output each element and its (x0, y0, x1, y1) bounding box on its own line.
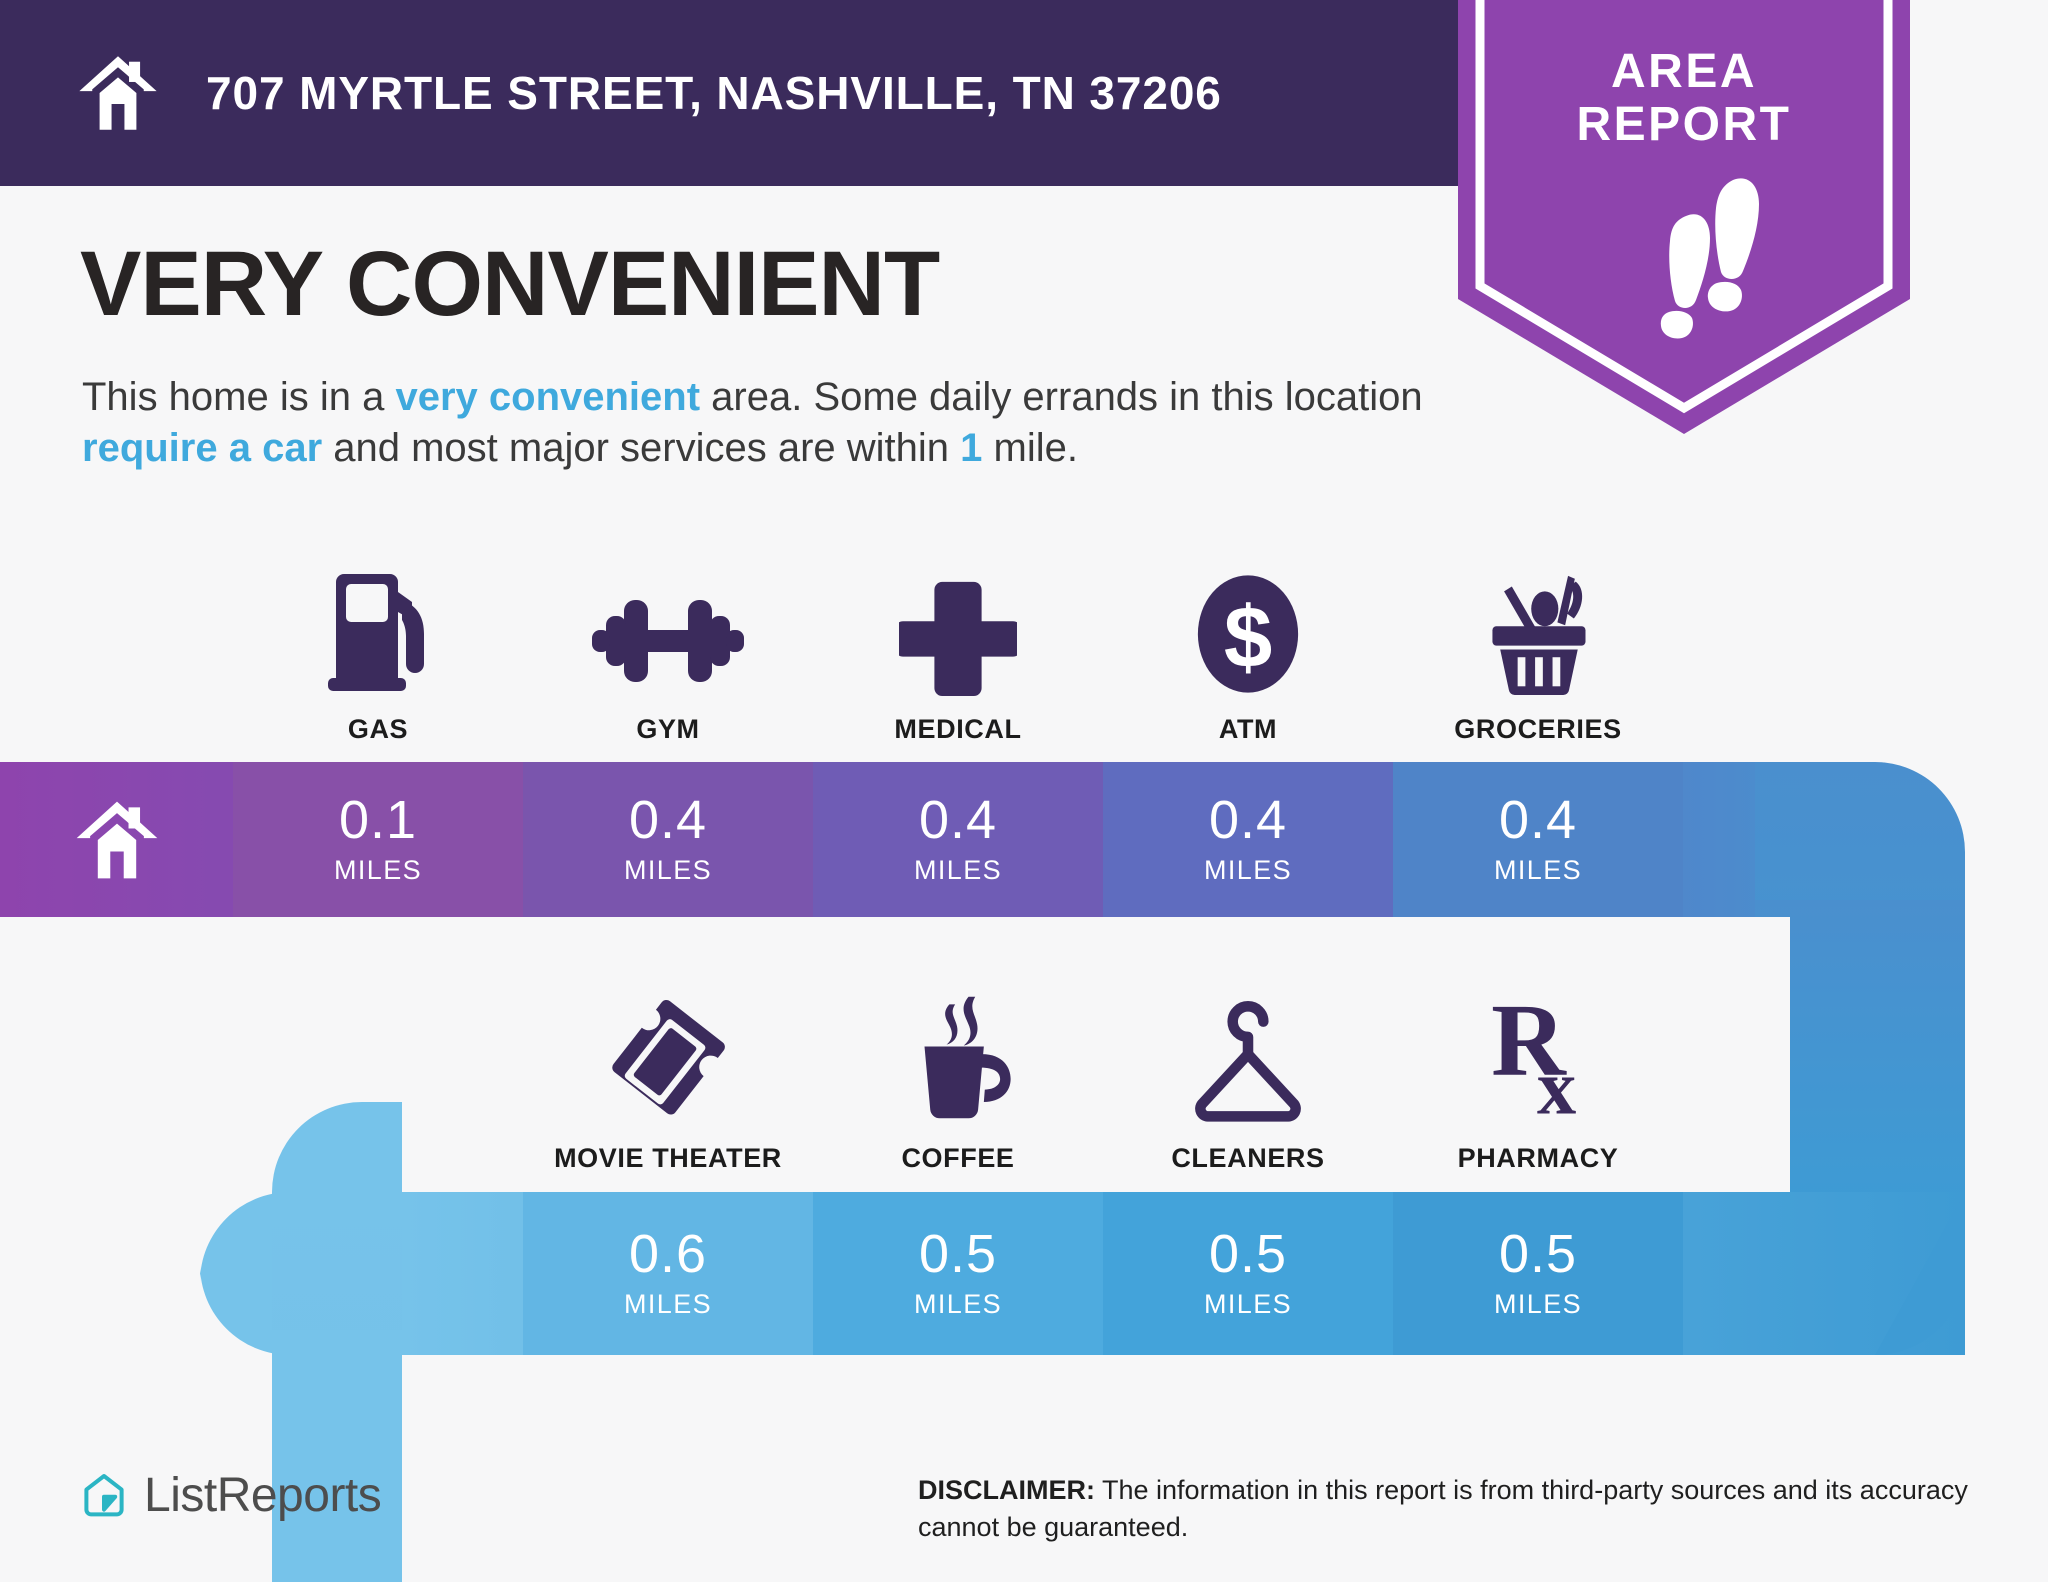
amenity-icon-row-2: MOVIE THEATER COFFEE (523, 985, 1683, 1174)
distance-unit: MILES (1494, 855, 1582, 886)
amenity-movie-theater: MOVIE THEATER (523, 985, 813, 1174)
header-bar: 707 MYRTLE STREET, NASHVILLE, TN 37206 (0, 0, 1492, 186)
area-report-badge: AREA REPORT (1458, 0, 1910, 434)
distance-value: 0.4 (629, 793, 707, 847)
amenity-groceries: GROCERIES (1393, 556, 1683, 745)
distance-row-2: 0.6 MILES 0.5 MILES 0.5 MILES 0.5 MILES (523, 1192, 1683, 1355)
distance-cell-movie-theater: 0.6 MILES (523, 1192, 813, 1355)
distance-cell-groceries: 0.4 MILES (1393, 762, 1683, 917)
distance-value: 0.6 (629, 1227, 707, 1281)
coffee-cup-icon (895, 985, 1021, 1125)
distance-unit: MILES (1494, 1289, 1582, 1320)
distance-cell-atm: 0.4 MILES (1103, 762, 1393, 917)
distance-cell-gym: 0.4 MILES (523, 762, 813, 917)
badge-shape (1458, 0, 1910, 434)
area-report-infographic: 707 MYRTLE STREET, NASHVILLE, TN 37206 A… (0, 0, 2048, 1582)
distance-cell-pharmacy: 0.5 MILES (1393, 1192, 1683, 1355)
amenity-label: ATM (1219, 714, 1277, 745)
amenity-label: GAS (348, 714, 408, 745)
rx-icon: R x (1475, 985, 1601, 1125)
distance-unit: MILES (914, 1289, 1002, 1320)
movie-ticket-icon (605, 985, 731, 1125)
distance-value: 0.4 (919, 793, 997, 847)
amenity-atm: $ ATM (1103, 556, 1393, 745)
grocery-basket-icon (1475, 556, 1601, 696)
dollar-circle-icon: $ (1196, 556, 1300, 696)
amenity-icon-row-1: GAS GYM MEDICA (233, 556, 1683, 745)
distance-value: 0.5 (1499, 1227, 1577, 1281)
home-icon (72, 47, 164, 139)
amenity-label: MOVIE THEATER (554, 1143, 782, 1174)
distance-cell-gas: 0.1 MILES (233, 762, 523, 917)
distance-value: 0.5 (919, 1227, 997, 1281)
distance-value: 0.1 (339, 793, 417, 847)
logo-wordmark: ListReports (144, 1468, 381, 1523)
amenity-label: PHARMACY (1458, 1143, 1619, 1174)
distance-unit: MILES (1204, 1289, 1292, 1320)
disclaimer: DISCLAIMER: The information in this repo… (918, 1472, 1988, 1547)
listreports-logo[interactable]: ListReports (80, 1468, 381, 1523)
distance-cell-cleaners: 0.5 MILES (1103, 1192, 1393, 1355)
medical-cross-icon (899, 556, 1017, 696)
svg-text:$: $ (1224, 589, 1272, 686)
amenity-label: COFFEE (901, 1143, 1014, 1174)
distance-value: 0.4 (1499, 793, 1577, 847)
amenity-medical: MEDICAL (813, 556, 1103, 745)
distance-value: 0.5 (1209, 1227, 1287, 1281)
home-marker-cell (0, 762, 233, 917)
amenity-label: MEDICAL (894, 714, 1021, 745)
gas-pump-icon (318, 556, 438, 696)
disclaimer-label: DISCLAIMER: (918, 1475, 1095, 1505)
amenity-pharmacy: R x PHARMACY (1393, 985, 1683, 1174)
distance-unit: MILES (624, 1289, 712, 1320)
distance-row-1: 0.1 MILES 0.4 MILES 0.4 MILES 0.4 MILES … (233, 762, 1683, 917)
svg-text:x: x (1537, 1044, 1576, 1125)
distance-unit: MILES (1204, 855, 1292, 886)
listreports-house-icon (80, 1472, 128, 1520)
amenity-cleaners: CLEANERS (1103, 985, 1393, 1174)
amenity-label: CLEANERS (1171, 1143, 1324, 1174)
amenity-label: GYM (636, 714, 699, 745)
amenity-gas: GAS (233, 556, 523, 745)
distance-cell-medical: 0.4 MILES (813, 762, 1103, 917)
distance-unit: MILES (624, 855, 712, 886)
distance-unit: MILES (334, 855, 422, 886)
distance-value: 0.4 (1209, 793, 1287, 847)
amenity-gym: GYM (523, 556, 813, 745)
property-address: 707 MYRTLE STREET, NASHVILLE, TN 37206 (206, 66, 1222, 120)
amenity-coffee: COFFEE (813, 985, 1103, 1174)
home-icon (67, 792, 167, 888)
hanger-icon (1181, 985, 1315, 1125)
dumbbell-icon (588, 556, 748, 696)
amenity-label: GROCERIES (1454, 714, 1621, 745)
distance-unit: MILES (914, 855, 1002, 886)
distance-cell-coffee: 0.5 MILES (813, 1192, 1103, 1355)
